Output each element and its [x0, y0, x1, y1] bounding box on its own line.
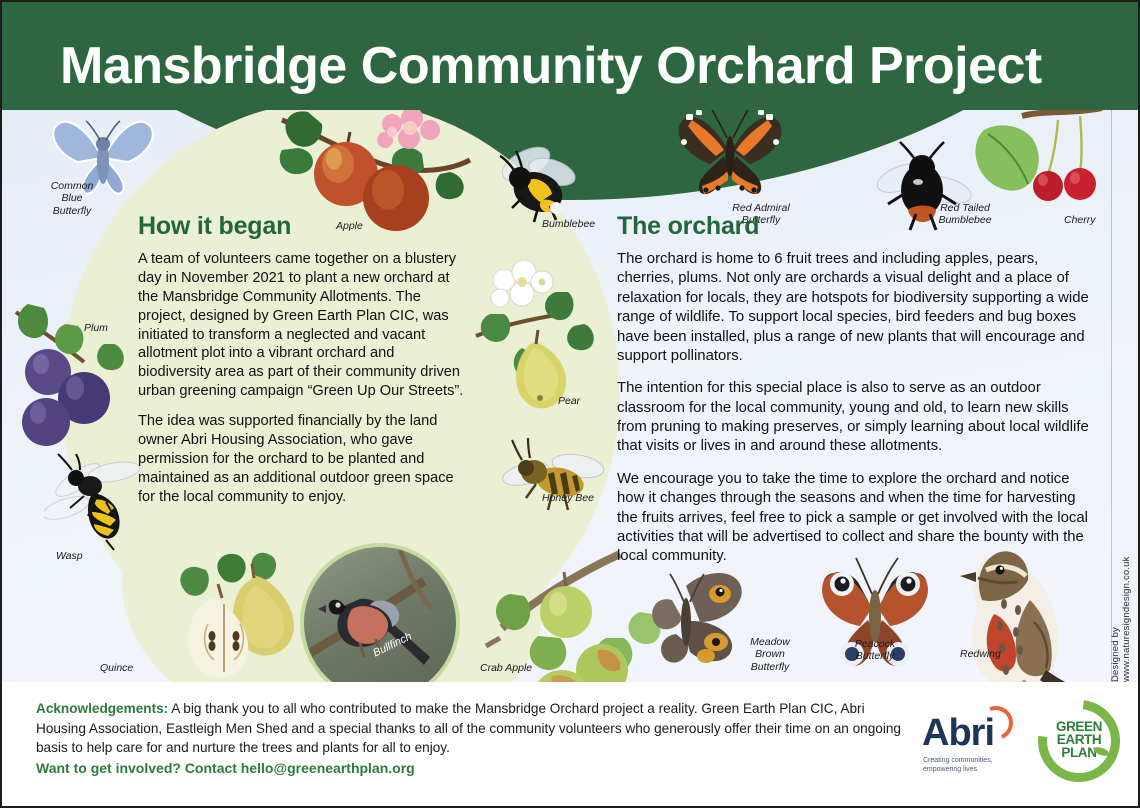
- cherry-illustration: [962, 110, 1112, 224]
- label-honey-bee: Honey Bee: [542, 492, 594, 504]
- content-canvas: Common Blue Butterfly Apple: [2, 110, 1138, 682]
- green-earth-plan-logo: GREEN EARTH PLAN: [1038, 700, 1120, 782]
- label-crab-apple: Crab Apple: [480, 662, 532, 674]
- label-common-blue-butterfly: Common Blue Butterfly: [30, 180, 114, 217]
- honey-bee-illustration: [502, 432, 606, 518]
- how-it-began-paragraph-2: The idea was supported financially by th…: [138, 412, 468, 506]
- poster-footer: Acknowledgements: A big thank you to all…: [2, 682, 1138, 806]
- label-plum: Plum: [84, 322, 108, 334]
- contact-line: Want to get involved? Contact hello@gree…: [36, 760, 415, 776]
- label-peacock-butterfly: Peacock Butterfly: [830, 638, 920, 663]
- how-it-began-paragraph-1: A team of volunteers came together on a …: [138, 250, 468, 401]
- page-title: Mansbridge Community Orchard Project: [60, 36, 1042, 96]
- section-how-it-began: How it began A team of volunteers came t…: [138, 212, 468, 518]
- label-quince: Quince: [100, 662, 133, 674]
- pear-illustration: [470, 258, 610, 448]
- the-orchard-paragraph-2: The intention for this special place is …: [617, 379, 1095, 457]
- abri-logo: Abri Creating communities, empowering li…: [922, 704, 1018, 778]
- designer-credit: Designed by www.naturesigndesign.co.uk: [1110, 508, 1132, 682]
- heading-the-orchard: The orchard: [617, 212, 1095, 241]
- quince-illustration: [132, 540, 302, 682]
- abri-logo-tagline: Creating communities, empowering lives: [923, 756, 1033, 775]
- label-meadow-brown-butterfly: Meadow Brown Butterfly: [730, 636, 810, 673]
- section-the-orchard: The orchard The orchard is home to 6 fru…: [617, 212, 1095, 580]
- acknowledgements-label: Acknowledgements:: [36, 701, 168, 716]
- the-orchard-paragraph-3: We encourage you to take the time to exp…: [617, 470, 1095, 567]
- label-pear: Pear: [558, 395, 580, 407]
- poster: Mansbridge Community Orchard Project Com…: [0, 0, 1140, 808]
- label-bumblebee: Bumblebee: [542, 218, 595, 230]
- the-orchard-paragraph-1: The orchard is home to 6 fruit trees and…: [617, 250, 1095, 366]
- acknowledgements: Acknowledgements: A big thank you to all…: [36, 699, 916, 758]
- label-redwing: Redwing: [960, 648, 1001, 660]
- red-admiral-butterfly-illustration: [670, 110, 790, 204]
- label-wasp: Wasp: [56, 550, 83, 562]
- heading-how-it-began: How it began: [138, 212, 468, 241]
